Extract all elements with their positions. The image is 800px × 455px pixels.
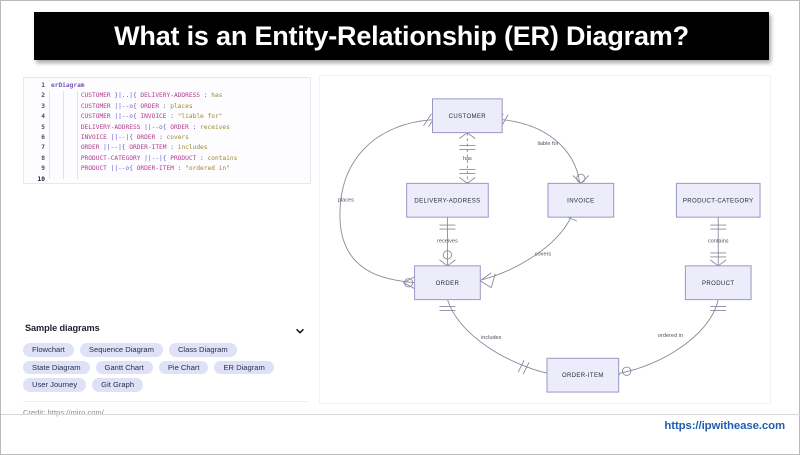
site-watermark: https://ipwithease.com bbox=[664, 420, 785, 432]
code-token-entity-right: PRODUCT bbox=[170, 155, 200, 162]
sample-diagram-chip[interactable]: Flowchart bbox=[23, 343, 74, 357]
line-number: 2 bbox=[24, 91, 49, 101]
page-title: What is an Entity-Relationship (ER) Diag… bbox=[114, 21, 689, 52]
code-token-cardinality: ||--o{ bbox=[111, 165, 137, 172]
code-token-cardinality: ||--o{ bbox=[144, 124, 170, 131]
code-token-entity-left: INVOICE bbox=[81, 134, 111, 141]
code-token-entity-left: ORDER bbox=[81, 144, 103, 151]
code-token-entity-right: DELIVERY-ADDRESS bbox=[140, 92, 203, 99]
entity-label: ORDER-ITEM bbox=[562, 373, 604, 379]
code-token-entity-left: CUSTOMER bbox=[81, 103, 115, 110]
code-text: CUSTOMER ||--o{ INVOICE : "liable for" bbox=[49, 112, 310, 122]
line-number: 3 bbox=[24, 102, 49, 112]
sample-diagram-chip[interactable]: State Diagram bbox=[23, 361, 90, 375]
entity-node[interactable]: INVOICE bbox=[548, 183, 614, 217]
entity-label: DELIVERY-ADDRESS bbox=[414, 198, 480, 204]
sample-diagram-chip[interactable]: Git Graph bbox=[92, 378, 143, 392]
entity-node[interactable]: CUSTOMER bbox=[433, 99, 503, 133]
entity-label: PRODUCT bbox=[702, 281, 734, 287]
divider bbox=[23, 401, 307, 402]
code-token-entity-left: PRODUCT-CATEGORY bbox=[81, 155, 144, 162]
line-number: 9 bbox=[24, 164, 49, 174]
er-diagram-panel[interactable]: CUSTOMERDELIVERY-ADDRESSINVOICEPRODUCT-C… bbox=[319, 75, 771, 404]
code-token-cardinality: ||--|{ bbox=[103, 144, 129, 151]
relationship-label: contains bbox=[708, 238, 729, 244]
code-token-entity-right: INVOICE bbox=[140, 113, 170, 120]
screenshot-root: What is an Entity-Relationship (ER) Diag… bbox=[0, 0, 800, 455]
entity-node[interactable]: PRODUCT bbox=[685, 266, 751, 300]
code-token-keyword: erDiagram bbox=[51, 82, 85, 89]
sample-diagram-chips[interactable]: FlowchartSequence DiagramClass DiagramSt… bbox=[23, 343, 307, 392]
code-token-relationship: "ordered in" bbox=[185, 165, 230, 172]
code-text: INVOICE ||--|{ ORDER : covers bbox=[49, 133, 310, 143]
code-text: PRODUCT-CATEGORY ||--|{ PRODUCT : contai… bbox=[49, 154, 310, 164]
code-token-colon: : bbox=[170, 113, 177, 120]
code-token-cardinality: ||--o{ bbox=[114, 113, 140, 120]
code-token-relationship: "liable for" bbox=[178, 113, 223, 120]
relationship-label: ordered in bbox=[658, 333, 683, 339]
code-line[interactable]: 10 bbox=[24, 175, 310, 184]
entity-label: PRODUCT-CATEGORY bbox=[683, 198, 754, 204]
relationship-label: covers bbox=[535, 251, 552, 257]
sample-diagram-chip[interactable]: Pie Chart bbox=[159, 361, 209, 375]
footer-divider bbox=[1, 414, 800, 415]
code-indent bbox=[51, 124, 81, 131]
title-banner: What is an Entity-Relationship (ER) Diag… bbox=[34, 12, 769, 60]
entity-label: CUSTOMER bbox=[449, 114, 487, 120]
entity-node[interactable]: ORDER bbox=[415, 266, 481, 300]
code-token-cardinality: }|..|{ bbox=[114, 92, 140, 99]
code-token-colon: : bbox=[193, 124, 200, 131]
code-line[interactable]: 6 INVOICE ||--|{ ORDER : covers bbox=[24, 133, 310, 143]
credit-text: Credit: https://miro.com/ bbox=[23, 408, 311, 417]
code-token-entity-left: DELIVERY-ADDRESS bbox=[81, 124, 144, 131]
code-token-cardinality: ||--|{ bbox=[111, 134, 137, 141]
code-text: PRODUCT ||--o{ ORDER-ITEM : "ordered in" bbox=[49, 164, 310, 174]
sample-diagrams-section: Sample diagrams FlowchartSequence Diagra… bbox=[23, 319, 311, 417]
code-line[interactable]: 7 ORDER ||--|{ ORDER-ITEM : includes bbox=[24, 143, 310, 153]
entity-node[interactable]: DELIVERY-ADDRESS bbox=[407, 183, 489, 217]
entity-label: INVOICE bbox=[567, 198, 594, 204]
relationship-label: has bbox=[463, 156, 472, 162]
code-token-relationship: places bbox=[170, 103, 192, 110]
entity-node[interactable]: PRODUCT-CATEGORY bbox=[676, 183, 760, 217]
sample-diagram-chip[interactable]: Class Diagram bbox=[169, 343, 237, 357]
code-token-relationship: has bbox=[211, 92, 222, 99]
line-number: 8 bbox=[24, 154, 49, 164]
code-lines[interactable]: 1erDiagram2 CUSTOMER }|..|{ DELIVERY-ADD… bbox=[24, 78, 310, 184]
er-diagram-canvas: CUSTOMERDELIVERY-ADDRESSINVOICEPRODUCT-C… bbox=[320, 76, 770, 403]
sample-diagram-chip[interactable]: ER Diagram bbox=[214, 361, 273, 375]
code-token-relationship: receives bbox=[200, 124, 230, 131]
code-indent bbox=[51, 103, 81, 110]
relationship-label: receives bbox=[437, 238, 458, 244]
line-number: 7 bbox=[24, 143, 49, 153]
code-token-colon: : bbox=[159, 134, 166, 141]
code-line[interactable]: 5 DELIVERY-ADDRESS ||--o{ ORDER : receiv… bbox=[24, 123, 310, 133]
code-token-relationship: covers bbox=[167, 134, 189, 141]
code-token-entity-left: CUSTOMER bbox=[81, 92, 115, 99]
relationship-label: includes bbox=[481, 335, 502, 341]
code-text: erDiagram bbox=[49, 81, 310, 91]
sample-diagram-chip[interactable]: Sequence Diagram bbox=[80, 343, 163, 357]
entity-label: ORDER bbox=[436, 281, 460, 287]
code-line[interactable]: 4 CUSTOMER ||--o{ INVOICE : "liable for" bbox=[24, 112, 310, 122]
code-text: DELIVERY-ADDRESS ||--o{ ORDER : receives bbox=[49, 123, 310, 133]
code-token-entity-right: ORDER bbox=[137, 134, 159, 141]
code-indent bbox=[51, 92, 81, 99]
code-line[interactable]: 8 PRODUCT-CATEGORY ||--|{ PRODUCT : cont… bbox=[24, 154, 310, 164]
code-indent bbox=[51, 113, 81, 120]
relationship-labels: hasliable forplacesreceivescoverscontain… bbox=[338, 141, 729, 341]
code-line[interactable]: 2 CUSTOMER }|..|{ DELIVERY-ADDRESS : has bbox=[24, 91, 310, 101]
code-editor-panel[interactable]: 1erDiagram2 CUSTOMER }|..|{ DELIVERY-ADD… bbox=[23, 77, 311, 184]
sample-diagram-chip[interactable]: User Journey bbox=[23, 378, 86, 392]
code-indent bbox=[51, 144, 81, 151]
code-token-entity-right: ORDER-ITEM bbox=[129, 144, 170, 151]
code-token-colon: : bbox=[170, 144, 177, 151]
code-line[interactable]: 9 PRODUCT ||--o{ ORDER-ITEM : "ordered i… bbox=[24, 164, 310, 174]
code-text: CUSTOMER }|..|{ DELIVERY-ADDRESS : has bbox=[49, 91, 310, 101]
code-token-cardinality: ||--|{ bbox=[144, 155, 170, 162]
chevron-down-icon[interactable] bbox=[295, 323, 305, 333]
code-indent bbox=[51, 155, 81, 162]
code-token-entity-right: ORDER bbox=[140, 103, 162, 110]
code-token-entity-right: ORDER bbox=[170, 124, 192, 131]
relationship-label: liable for bbox=[537, 141, 558, 147]
entity-boxes: CUSTOMERDELIVERY-ADDRESSINVOICEPRODUCT-C… bbox=[407, 99, 760, 392]
sample-diagrams-header[interactable]: Sample diagrams bbox=[23, 319, 311, 337]
line-number: 10 bbox=[24, 175, 49, 184]
line-number: 4 bbox=[24, 112, 49, 122]
code-line[interactable]: 3 CUSTOMER ||--o{ ORDER : places bbox=[24, 102, 310, 112]
code-line[interactable]: 1erDiagram bbox=[24, 81, 310, 91]
line-number: 6 bbox=[24, 133, 49, 143]
relationship-lines bbox=[340, 114, 726, 382]
relationship-label: places bbox=[338, 198, 354, 204]
code-token-relationship: includes bbox=[178, 144, 208, 151]
code-token-entity-right: ORDER-ITEM bbox=[137, 165, 178, 172]
code-token-cardinality: ||--o{ bbox=[114, 103, 140, 110]
line-number: 5 bbox=[24, 123, 49, 133]
entity-node[interactable]: ORDER-ITEM bbox=[547, 358, 619, 392]
code-token-relationship: contains bbox=[208, 155, 238, 162]
code-text: ORDER ||--|{ ORDER-ITEM : includes bbox=[49, 143, 310, 153]
code-indent bbox=[51, 165, 81, 172]
code-token-entity-left: CUSTOMER bbox=[81, 113, 115, 120]
code-indent bbox=[51, 134, 81, 141]
code-text: CUSTOMER ||--o{ ORDER : places bbox=[49, 102, 310, 112]
sample-diagram-chip[interactable]: Gantt Chart bbox=[96, 361, 153, 375]
code-token-entity-left: PRODUCT bbox=[81, 165, 111, 172]
line-number: 1 bbox=[24, 81, 49, 91]
code-token-colon: : bbox=[200, 155, 207, 162]
sample-diagrams-heading: Sample diagrams bbox=[25, 323, 100, 333]
